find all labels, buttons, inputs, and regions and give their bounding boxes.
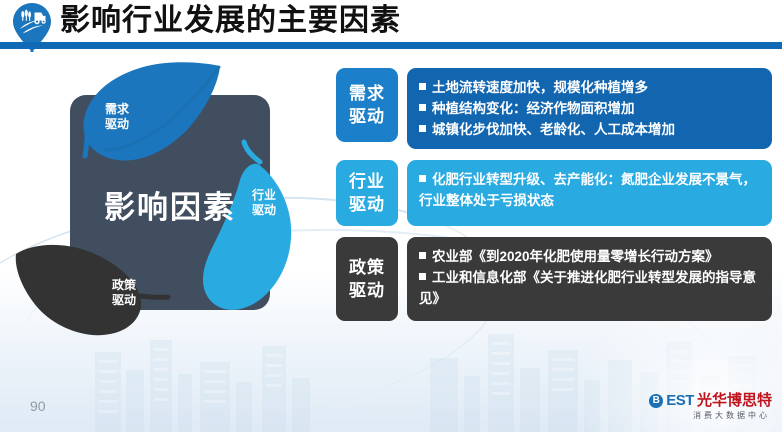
title-underline-rule bbox=[0, 42, 782, 49]
brand-subtitle: 消费大数据中心 bbox=[626, 410, 772, 421]
driver-row-policy-tag: 政策 驱动 bbox=[336, 237, 398, 321]
leaf-policy-line2: 驱动 bbox=[112, 293, 136, 307]
diagram-leaf-industry bbox=[198, 138, 308, 323]
driver-row-demand-tag: 需求 驱动 bbox=[336, 68, 398, 142]
driver-row-demand-body: 土地流转速度加快，规模化种植增多 种植结构变化：经济作物面积增加 城镇化步伐加快… bbox=[407, 68, 772, 149]
bullet-square-icon bbox=[419, 175, 426, 182]
bullet-square-icon bbox=[419, 125, 426, 132]
diagram-leaf-demand-label: 需求 驱动 bbox=[82, 102, 152, 132]
diagram-leaf-policy-label: 政策 驱动 bbox=[92, 278, 156, 308]
driver-row-demand-tag-line1: 需求 bbox=[349, 82, 385, 105]
diagram-core-label: 影响因素 bbox=[70, 182, 270, 227]
bullet-square-icon bbox=[419, 83, 426, 90]
driver-row-policy[interactable]: 政策 驱动 农业部《到2020年化肥使用量零增长行动方案》 工业和信息化部《关于… bbox=[336, 237, 772, 321]
driver-row-policy-body: 农业部《到2020年化肥使用量零增长行动方案》 工业和信息化部《关于推进化肥行业… bbox=[407, 237, 772, 321]
bullet-text: 城镇化步伐加快、老龄化、人工成本增加 bbox=[432, 122, 675, 137]
driver-row-demand-tag-line2: 驱动 bbox=[349, 105, 385, 128]
driver-row-industry-tag: 行业 驱动 bbox=[336, 160, 398, 226]
leaf-policy-line1: 政策 bbox=[112, 278, 136, 292]
leaf-demand-line1: 需求 bbox=[105, 102, 129, 116]
page-title: 影响行业发展的主要因素 bbox=[60, 3, 401, 39]
driver-row-industry[interactable]: 行业 驱动 化肥行业转型升级、去产能化：氮肥企业发展不景气，行业整体处于亏损状态 bbox=[336, 160, 772, 226]
bullet-item: 农业部《到2020年化肥使用量零增长行动方案》 bbox=[419, 246, 760, 267]
driver-rows: 需求 驱动 土地流转速度加快，规模化种植增多 种植结构变化：经济作物面积增加 城… bbox=[336, 68, 772, 332]
brand-est-text: EST bbox=[666, 392, 694, 409]
bullet-square-icon bbox=[419, 252, 426, 259]
bullet-square-icon bbox=[419, 104, 426, 111]
brand-logo-row: B EST 光华博思特 bbox=[626, 392, 772, 409]
bullet-text: 工业和信息化部《关于推进化肥行业转型发展的指导意见》 bbox=[419, 270, 756, 306]
brand-name-text: 光华博思特 bbox=[697, 392, 772, 409]
brand-b-mark-icon: B bbox=[649, 394, 663, 408]
leaf-demand-line2: 驱动 bbox=[105, 117, 129, 131]
bullet-item: 工业和信息化部《关于推进化肥行业转型发展的指导意见》 bbox=[419, 267, 760, 309]
driver-row-industry-tag-line1: 行业 bbox=[349, 170, 385, 193]
driver-row-industry-tag-line2: 驱动 bbox=[349, 193, 385, 216]
slide-root: 影响行业发展的主要因素 需求 驱动 行业 驱动 政策 bbox=[0, 0, 782, 432]
bullet-square-icon bbox=[419, 273, 426, 280]
brand-logo: B EST 光华博思特 消费大数据中心 bbox=[626, 392, 772, 421]
bullet-text: 农业部《到2020年化肥使用量零增长行动方案》 bbox=[432, 249, 719, 264]
bullet-text: 化肥行业转型升级、去产能化：氮肥企业发展不景气，行业整体处于亏损状态 bbox=[419, 172, 756, 208]
driver-row-demand[interactable]: 需求 驱动 土地流转速度加快，规模化种植增多 种植结构变化：经济作物面积增加 城… bbox=[336, 68, 772, 149]
bullet-item: 种植结构变化：经济作物面积增加 bbox=[419, 98, 760, 119]
bullet-text: 土地流转速度加快，规模化种植增多 bbox=[432, 80, 648, 95]
bullet-text: 种植结构变化：经济作物面积增加 bbox=[432, 101, 635, 116]
bullet-item: 土地流转速度加快，规模化种植增多 bbox=[419, 77, 760, 98]
bullet-item: 化肥行业转型升级、去产能化：氮肥企业发展不景气，行业整体处于亏损状态 bbox=[419, 169, 760, 211]
driver-row-industry-body: 化肥行业转型升级、去产能化：氮肥企业发展不景气，行业整体处于亏损状态 bbox=[407, 160, 772, 226]
slide-header: 影响行业发展的主要因素 bbox=[0, 0, 782, 48]
page-number: 90 bbox=[30, 398, 46, 414]
influence-factors-diagram: 需求 驱动 行业 驱动 政策 驱动 影响因素 bbox=[30, 60, 330, 370]
driver-row-policy-tag-line2: 驱动 bbox=[349, 279, 385, 302]
driver-row-policy-tag-line1: 政策 bbox=[349, 256, 385, 279]
bullet-item: 城镇化步伐加快、老龄化、人工成本增加 bbox=[419, 119, 760, 140]
